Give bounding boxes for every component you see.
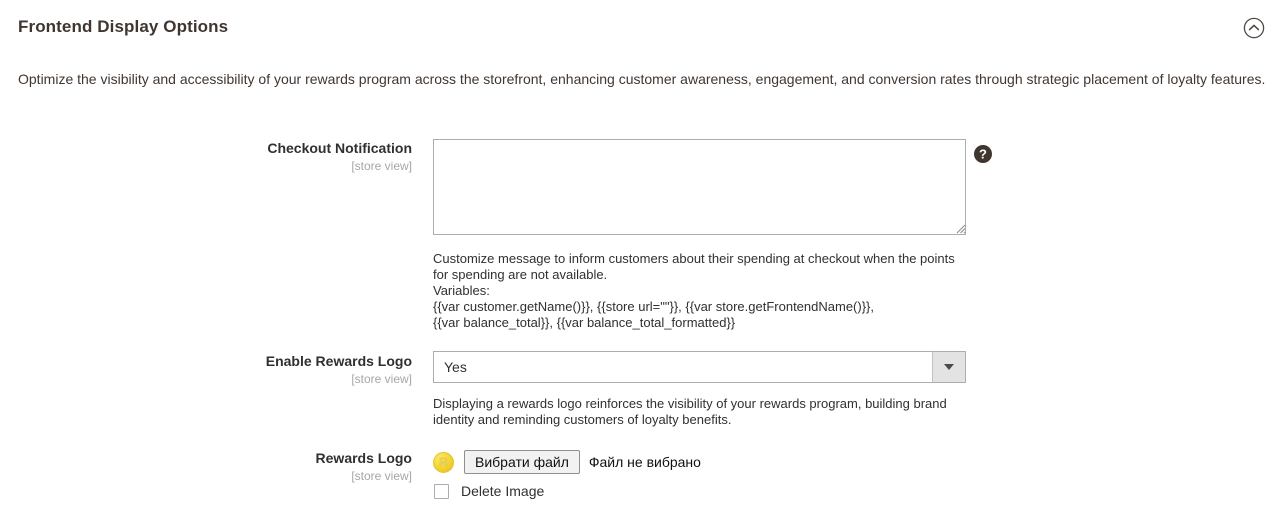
enable-rewards-logo-scope: [store view] [0,371,412,387]
chevron-up-circle-icon[interactable] [1243,17,1265,39]
file-upload-row: R Вибрати файл Файл не вибрано [433,450,701,474]
note-variables-line-1: {{var customer.getName()}}, {{store url=… [433,299,968,315]
section-description: Optimize the visibility and accessibilit… [18,68,1274,90]
note-variables-heading: Variables: [433,283,968,299]
checkout-notification-note: Customize message to inform customers ab… [433,251,968,331]
enable-rewards-logo-label: Enable Rewards Logo [0,352,412,370]
rewards-coin-icon: R [433,452,454,473]
enable-rewards-logo-label-group: Enable Rewards Logo [store view] [0,352,412,387]
svg-text:?: ? [979,147,987,162]
enable-rewards-logo-note: Displaying a rewards logo reinforces the… [433,396,968,428]
rewards-logo-scope: [store view] [0,468,412,484]
rewards-coin-letter: R [439,455,448,469]
file-status-text: Файл не вибрано [589,454,701,470]
checkout-notification-control: ? Customize message to inform customers … [433,139,968,331]
rewards-logo-label: Rewards Logo [0,449,412,467]
rewards-logo-control: R Вибрати файл Файл не вибрано Delete Im… [433,450,701,499]
checkout-notification-textarea[interactable] [433,139,966,235]
checkout-notification-label-group: Checkout Notification [store view] [0,139,412,174]
note-variables-line-2: {{var balance_total}}, {{var balance_tot… [433,315,968,331]
page-title: Frontend Display Options [18,17,228,37]
checkout-notification-label: Checkout Notification [0,139,412,157]
checkout-notification-scope: [store view] [0,158,412,174]
frontend-display-options-panel: Frontend Display Options Optimize the vi… [0,0,1287,523]
enable-rewards-logo-control: Yes Displaying a rewards logo reinforces… [433,351,968,428]
delete-image-checkbox[interactable] [434,484,449,499]
enable-rewards-logo-note-text: Displaying a rewards logo reinforces the… [433,396,968,428]
section-header: Frontend Display Options [0,0,1287,56]
question-mark-icon[interactable]: ? [973,144,993,164]
select-dropdown-button[interactable] [932,351,966,383]
delete-image-row: Delete Image [433,483,701,499]
chevron-down-icon [944,364,954,370]
note-description: Customize message to inform customers ab… [433,251,968,283]
delete-image-label[interactable]: Delete Image [461,483,544,499]
rewards-logo-label-group: Rewards Logo [store view] [0,449,412,484]
enable-rewards-logo-select[interactable]: Yes [433,351,966,383]
choose-file-button[interactable]: Вибрати файл [464,450,580,474]
